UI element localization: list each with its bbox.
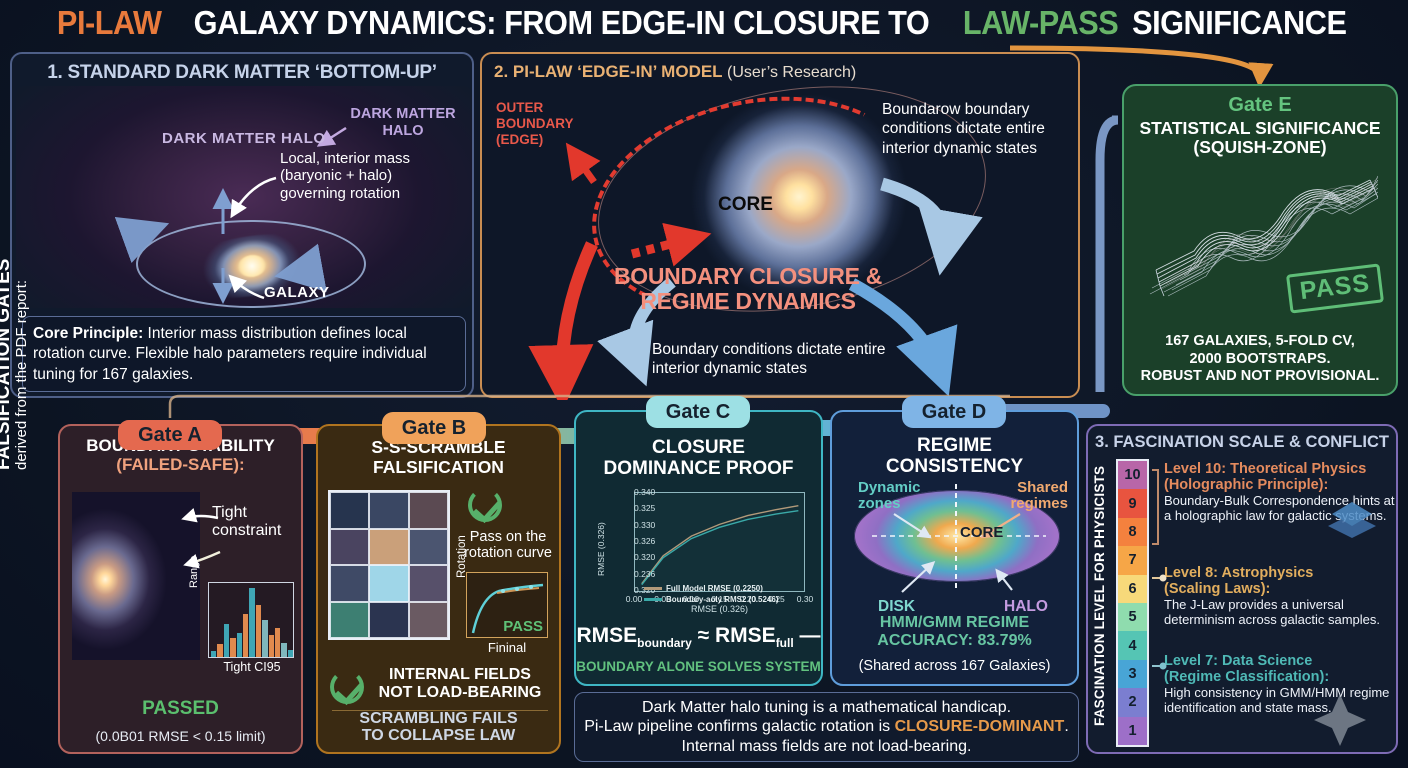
- fascination-level-4[interactable]: 4: [1118, 631, 1147, 659]
- legend-swatch: [644, 587, 662, 590]
- infographic-root: PI-LAW GALAXY DYNAMICS: FROM EDGE-IN CLO…: [0, 0, 1408, 768]
- fascination-vertical-label: FASCINATION LEVEL FOR PHYSICISTS: [1092, 436, 1107, 726]
- chart-legend: Full Model RMSE (0.2250)Boundary-aoly RM…: [644, 584, 778, 606]
- check-icon-internal-fields: [330, 670, 364, 704]
- gate-a-note: (0.0B01 RMSE < 0.15 limit): [60, 728, 301, 744]
- gate-b-internal-fields: INTERNAL FIELDS NOT LOAD-BEARING: [362, 666, 558, 701]
- chart-xtick: 0.00: [626, 594, 643, 604]
- label-dark-matter-halo-center: DARK MATTER HALO: [162, 130, 326, 147]
- gate-c-title: CLOSURE DOMINANCE PROOF: [576, 438, 821, 479]
- gate-b-footer: SCRAMBLING FAILS TO COLLAPSE LAW: [318, 710, 559, 745]
- falsification-label-line2: derived from the PDF report:: [14, 170, 30, 470]
- gate-b-pass-note: Pass on the rotation curve: [458, 530, 558, 562]
- note-boundary-top-right: Boundarow boundary conditions dictate en…: [882, 100, 1082, 158]
- banner-line2c: .: [1064, 718, 1068, 735]
- banner-line3: Internal mass fields are not load-bearin…: [682, 738, 972, 755]
- gate-b-mini-xlabel: Fininal: [464, 640, 550, 655]
- banner-line2a: Pi-Law pipeline confirms galactic rotati…: [584, 718, 894, 735]
- gate-b-tab[interactable]: Gate B: [382, 412, 486, 444]
- level-entry-7: Level 7: Data Science (Regime Classifica…: [1164, 654, 1396, 716]
- panel-gate-d-regime-consistency: REGIME CONSISTENCY Dynamic zones Shared …: [830, 410, 1079, 686]
- chart-xtick: 0.30: [797, 594, 814, 604]
- fascination-level-7[interactable]: 7: [1118, 546, 1147, 574]
- legend-entry: Boundary-aoly RMS2 (0.5246): [644, 595, 778, 604]
- gate-d-accuracy: HMM/GMM REGIME ACCURACY: 83.79%: [832, 614, 1077, 650]
- legend-entry: Full Model RMSE (0.2250): [644, 584, 778, 593]
- legend-label: Full Model RMSE (0.2250): [666, 584, 763, 593]
- gate-a-tab[interactable]: Gate A: [118, 420, 222, 450]
- page-title: PI-LAW GALAXY DYNAMICS: FROM EDGE-IN CLO…: [0, 0, 1408, 46]
- dark-matter-halo-illustration: DARK MATTER HALO DARK MATTER HALO Local,…: [16, 86, 472, 308]
- gate-d-tab[interactable]: Gate D: [902, 396, 1006, 428]
- gate-c-equation: RMSEboundary ≈ RMSEfull —: [576, 624, 821, 650]
- series-line: [642, 506, 799, 584]
- gate-b-tab-label: Gate B: [402, 417, 466, 440]
- label-galaxy: GALAXY: [264, 284, 330, 301]
- level-8-heading: Level 8: Astrophysics (Scaling Laws):: [1164, 566, 1396, 597]
- gate-c-tab[interactable]: Gate C: [646, 396, 750, 428]
- falsification-gates-vertical-label: FALSIFICATION GATES derived from the PDF…: [0, 170, 30, 470]
- closure-dominance-chart: RMSE (0.326) 0.3400.3250.3300.3260.3200.…: [592, 490, 808, 618]
- panel-gate-e-statistical-significance: Gate E STATISTICAL SIGNIFICANCE (SQUISH-…: [1122, 84, 1398, 396]
- panel-gate-a-boundary-stability: BOUNDARY STABILITY (FAILED-SAFE): Tight …: [58, 424, 303, 754]
- label-shared-regimes: Shared regimes: [996, 480, 1068, 512]
- chart-ylabel: RMSE (0.326): [596, 522, 606, 576]
- panel-standard-dark-matter: 1. STANDARD DARK MATTER ‘BOTTOM-UP’ MODE…: [10, 52, 474, 398]
- label-dynamic-zones: Dynamic zones: [858, 480, 921, 512]
- gate-b-puzzle-image: [328, 490, 450, 640]
- banner-highlight: CLOSURE-DOMINANT: [895, 718, 1065, 735]
- gate-c-tab-label: Gate C: [666, 401, 730, 424]
- series-line: [642, 511, 799, 585]
- gate-b-mini-pass: PASS: [503, 618, 543, 635]
- gate-b-mini-ylabel: Rotation: [456, 535, 468, 578]
- legend-label: Boundary-aoly RMS2 (0.5246): [666, 595, 778, 604]
- fascination-level-3[interactable]: 3: [1118, 660, 1147, 688]
- gate-e-title: STATISTICAL SIGNIFICANCE (SQUISH-ZONE): [1124, 119, 1396, 158]
- gate-e-footer: 167 GALAXIES, 5-FOLD CV, 2000 BOOTSTRAPS…: [1124, 333, 1396, 386]
- chart-plot-area: [634, 492, 805, 592]
- gate-a-histogram-xlabel: Tight CI95: [206, 660, 298, 674]
- gate-d-tab-label: Gate D: [922, 401, 986, 424]
- fascination-level-2[interactable]: 2: [1118, 688, 1147, 716]
- panel-gate-b-scramble-falsification: S-S-SCRAMBLE FALSIFICATION Pass on the r…: [316, 424, 561, 754]
- gate-b-rotation-mini-chart: PASS: [466, 572, 548, 638]
- label-core-regime: CORE: [960, 524, 1003, 541]
- banner-line1: Dark Matter halo tuning is a mathematica…: [642, 699, 1011, 716]
- fascination-level-10[interactable]: 10: [1118, 461, 1147, 489]
- chart-series: [635, 493, 804, 591]
- level-10-body: Boundary-Bulk Correspondence hints at a …: [1164, 494, 1396, 523]
- core-principle-lead: Core Principle:: [33, 325, 143, 342]
- gate-a-histogram: [208, 582, 294, 658]
- fascination-level-8[interactable]: 8: [1118, 518, 1147, 546]
- level-entry-10: Level 10: Theoretical Physics (Holograph…: [1164, 462, 1396, 524]
- gate-e-label: Gate E: [1124, 94, 1396, 117]
- level-entry-8: Level 8: Astrophysics (Scaling Laws): Th…: [1164, 566, 1396, 628]
- fascination-level-9[interactable]: 9: [1118, 489, 1147, 517]
- title-part-pilaw: PI-LAW: [57, 4, 162, 42]
- note-boundary-bottom: Boundary conditions dictate entire inter…: [652, 340, 942, 379]
- core-principle-note: Core Principle: Interior mass distributi…: [22, 316, 466, 392]
- fascination-level-1[interactable]: 1: [1118, 717, 1147, 745]
- histogram-bars: [211, 585, 293, 657]
- gate-a-histogram-ylabel: Range: [188, 556, 200, 588]
- gate-a-tab-label: Gate A: [138, 424, 202, 447]
- falsification-label-line1: FALSIFICATION GATES: [0, 170, 14, 470]
- gate-a-status: PASSED: [60, 698, 301, 720]
- level-7-heading: Level 7: Data Science (Regime Classifica…: [1164, 654, 1396, 685]
- level-7-body: High consistency in GMM/HMM regime ident…: [1164, 686, 1396, 715]
- title-part-main: GALAXY DYNAMICS: FROM EDGE-IN CLOSURE TO: [194, 4, 930, 42]
- callout-local-interior-mass: Local, interior mass (baryonic + halo) g…: [280, 150, 410, 202]
- check-icon-pass-rotation: [468, 488, 502, 522]
- panel-fascination-scale: 3. FASCINATION SCALE & CONFLICT FASCINAT…: [1086, 424, 1398, 754]
- legend-swatch: [644, 598, 662, 601]
- fascination-level-6[interactable]: 6: [1118, 575, 1147, 603]
- gate-a-tight-constraint-callout: Tight constraint: [212, 504, 281, 540]
- title-part-tail: SIGNIFICANCE: [1132, 4, 1346, 42]
- level-8-body: The J-Law provides a universal determini…: [1164, 598, 1396, 627]
- panel3-header: 3. FASCINATION SCALE & CONFLICT: [1088, 433, 1396, 452]
- title-part-lawpass: LAW-PASS: [963, 4, 1118, 42]
- boundary-closure-title: BOUNDARY CLOSURE & REGIME DYNAMICS: [538, 264, 958, 314]
- panel-gate-c-closure-dominance: CLOSURE DOMINANCE PROOF RMSE (0.326) 0.3…: [574, 410, 823, 686]
- panel-pilaw-edge-in-model: 2. PI-LAW ‘EDGE-IN’ MODEL (User’s Resear…: [480, 52, 1080, 398]
- gate-d-footer: (Shared across 167 Galaxies): [832, 658, 1077, 674]
- label-core: CORE: [718, 194, 773, 216]
- gate-c-footer: BOUNDARY ALONE SOLVES SYSTEM: [576, 659, 821, 674]
- level-10-heading: Level 10: Theoretical Physics (Holograph…: [1164, 462, 1396, 493]
- fascination-colorbar: 10987654321: [1116, 459, 1149, 747]
- summary-banner: Dark Matter halo tuning is a mathematica…: [574, 692, 1079, 762]
- label-dark-matter-halo-right: DARK MATTER HALO: [348, 106, 458, 139]
- fascination-level-5[interactable]: 5: [1118, 603, 1147, 631]
